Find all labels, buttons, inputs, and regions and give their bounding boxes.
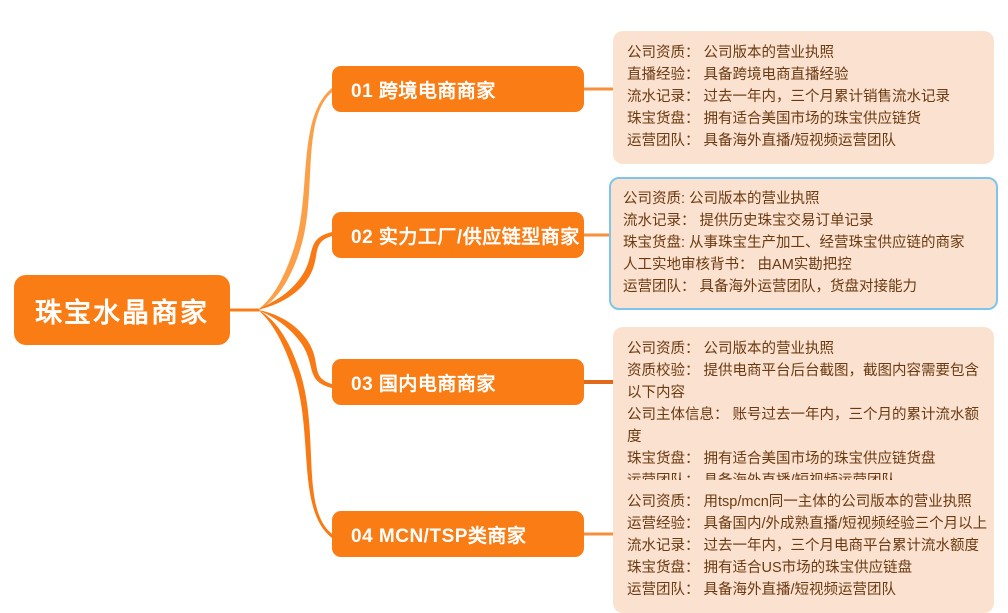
detail-line: 珠宝货盘： 拥有适合美国市场的珠宝供应链货 [627,108,980,130]
detail-line: 资质校验： 提供电商平台后台截图，截图内容需要包含以下内容 [627,360,980,404]
detail-line: 人工实地审核背书： 由AM实勘把控 [623,254,984,276]
edge-root-to-branch-02 [258,232,332,310]
mindmap-canvas: 珠宝水晶商家 01 跨境电商商家 02 实力工厂/供应链型商家 03 国内电商商… [0,0,1008,610]
branch-node-03[interactable]: 03 国内电商商家 [332,359,584,405]
branch-node-02[interactable]: 02 实力工厂/供应链型商家 [332,212,584,258]
detail-line: 公司资质： 用tsp/mcn同一主体的公司版本的营业执照 [627,491,980,513]
branch-node-label: 04 MCN/TSP类商家 [351,521,526,548]
branch-node-01[interactable]: 01 跨境电商商家 [332,66,584,112]
detail-panel-04[interactable]: 公司资质： 用tsp/mcn同一主体的公司版本的营业执照 运营经验： 具备国内/… [613,480,994,613]
edge-root-to-branch-04 [258,310,332,538]
detail-line: 流水记录： 过去一年内，三个月累计销售流水记录 [627,86,980,108]
edge-root-to-branch-03 [258,310,332,388]
branch-node-label: 01 跨境电商商家 [351,76,496,103]
detail-panel-01[interactable]: 公司资质： 公司版本的营业执照 直播经验： 具备跨境电商直播经验 流水记录： 过… [613,31,994,164]
detail-line: 公司资质: 公司版本的营业执照 [623,188,984,210]
detail-line: 公司资质： 公司版本的营业执照 [627,338,980,360]
root-node[interactable]: 珠宝水晶商家 [14,275,230,345]
detail-panel-03[interactable]: 公司资质： 公司版本的营业执照 资质校验： 提供电商平台后台截图，截图内容需要包… [613,327,994,504]
detail-line: 运营团队： 具备海外直播/短视频运营团队 [627,579,980,601]
detail-panel-02[interactable]: 公司资质: 公司版本的营业执照 流水记录： 提供历史珠宝交易订单记录 珠宝货盘:… [609,177,998,310]
detail-line: 运营经验： 具备国内/外成熟直播/短视频经验三个月以上 [627,513,980,535]
branch-node-label: 03 国内电商商家 [351,369,496,396]
detail-line: 公司资质： 公司版本的营业执照 [627,42,980,64]
root-node-label: 珠宝水晶商家 [35,291,209,330]
detail-line: 流水记录： 提供历史珠宝交易订单记录 [623,210,984,232]
branch-node-04[interactable]: 04 MCN/TSP类商家 [332,511,584,557]
edge-root-to-branch-01 [258,88,332,310]
branch-node-label: 02 实力工厂/供应链型商家 [351,222,580,249]
detail-line: 直播经验： 具备跨境电商直播经验 [627,64,980,86]
detail-line: 运营团队： 具备海外运营团队，货盘对接能力 [623,276,984,298]
detail-line: 珠宝货盘: 从事珠宝生产加工、经营珠宝供应链的商家 [623,232,984,254]
detail-line: 公司主体信息： 账号过去一年内，三个月的累计流水额度 [627,404,980,448]
detail-line: 流水记录： 过去一年内，三个月电商平台累计流水额度 [627,535,980,557]
detail-line: 珠宝货盘： 拥有适合US市场的珠宝供应链盘 [627,557,980,579]
detail-line: 珠宝货盘： 拥有适合美国市场的珠宝供应链货盘 [627,448,980,470]
detail-line: 运营团队： 具备海外直播/短视频运营团队 [627,130,980,152]
